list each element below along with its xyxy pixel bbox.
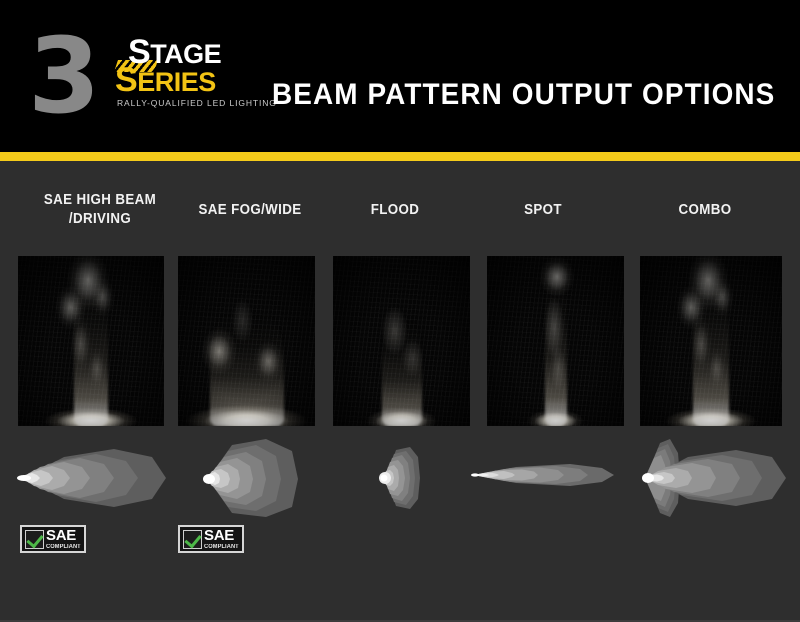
sae-badge-text: SAE COMPLIANT	[46, 528, 83, 550]
green-check-icon	[183, 530, 202, 549]
beam-diagram-sae-high-beam-driving	[14, 443, 174, 513]
beam-photo-sae-fog-wide	[178, 256, 315, 426]
sae-badge-text: SAE COMPLIANT	[204, 528, 241, 550]
logo-tagline: RALLY-QUALIFIED LED LIGHTING	[117, 98, 277, 108]
photo-vignette	[333, 256, 470, 426]
beam-photo-sae-high-beam-driving	[18, 256, 164, 426]
yellow-divider	[0, 152, 800, 161]
green-check-icon	[25, 530, 44, 549]
photo-vignette	[640, 256, 782, 426]
beam-diagram-sae-fog-wide	[198, 437, 318, 519]
column-label-flood: FLOOD	[326, 201, 464, 220]
beam-photo-spot	[487, 256, 624, 426]
beam-diagram-flood	[372, 443, 434, 513]
sae-badge-sub: COMPLIANT	[46, 544, 81, 550]
column-label-combo: COMBO	[636, 201, 774, 220]
logo-wordmark: STAGE SERIES RALLY-QUALIFIED LED LIGHTIN…	[104, 38, 254, 124]
photo-vignette	[178, 256, 315, 426]
beam-pattern-infographic: 3 STAGE SERIES RALLY-QUALIFIED LED LIGHT…	[0, 0, 800, 622]
beam-diagram-spot	[470, 455, 620, 495]
diode-dynamics-stage-series-logo: 3 STAGE SERIES RALLY-QUALIFIED LED LIGHT…	[28, 28, 253, 124]
header-bar: 3 STAGE SERIES RALLY-QUALIFIED LED LIGHT…	[0, 0, 800, 152]
page-title: BEAM PATTERN OUTPUT OPTIONS	[272, 78, 775, 112]
sae-badge-main: SAE	[46, 528, 83, 543]
column-label-sae-fog-wide: SAE FOG/WIDE	[167, 201, 333, 220]
beam-diagram-combo	[626, 437, 796, 519]
photo-vignette	[18, 256, 164, 426]
logo-word-series: SERIES	[115, 66, 216, 96]
logo-numeral-3: 3	[28, 28, 96, 124]
beam-photo-combo	[640, 256, 782, 426]
photo-vignette	[487, 256, 624, 426]
logo-word-stage: STAGE	[128, 38, 221, 68]
sae-badge-sub: COMPLIANT	[204, 544, 239, 550]
sae-badge-main: SAE	[204, 528, 241, 543]
column-label-sae-high-beam-driving: SAE HIGH BEAM /DRIVING	[17, 191, 183, 229]
sae-compliant-badge-high-beam-driving: SAE COMPLIANT	[20, 525, 86, 553]
beam-photo-flood	[333, 256, 470, 426]
sae-compliant-badge-fog-wide: SAE COMPLIANT	[178, 525, 244, 553]
column-label-spot: SPOT	[474, 201, 612, 220]
content-panel: SAE HIGH BEAM /DRIVING SAE FOG/WIDE FLOO…	[0, 161, 800, 620]
